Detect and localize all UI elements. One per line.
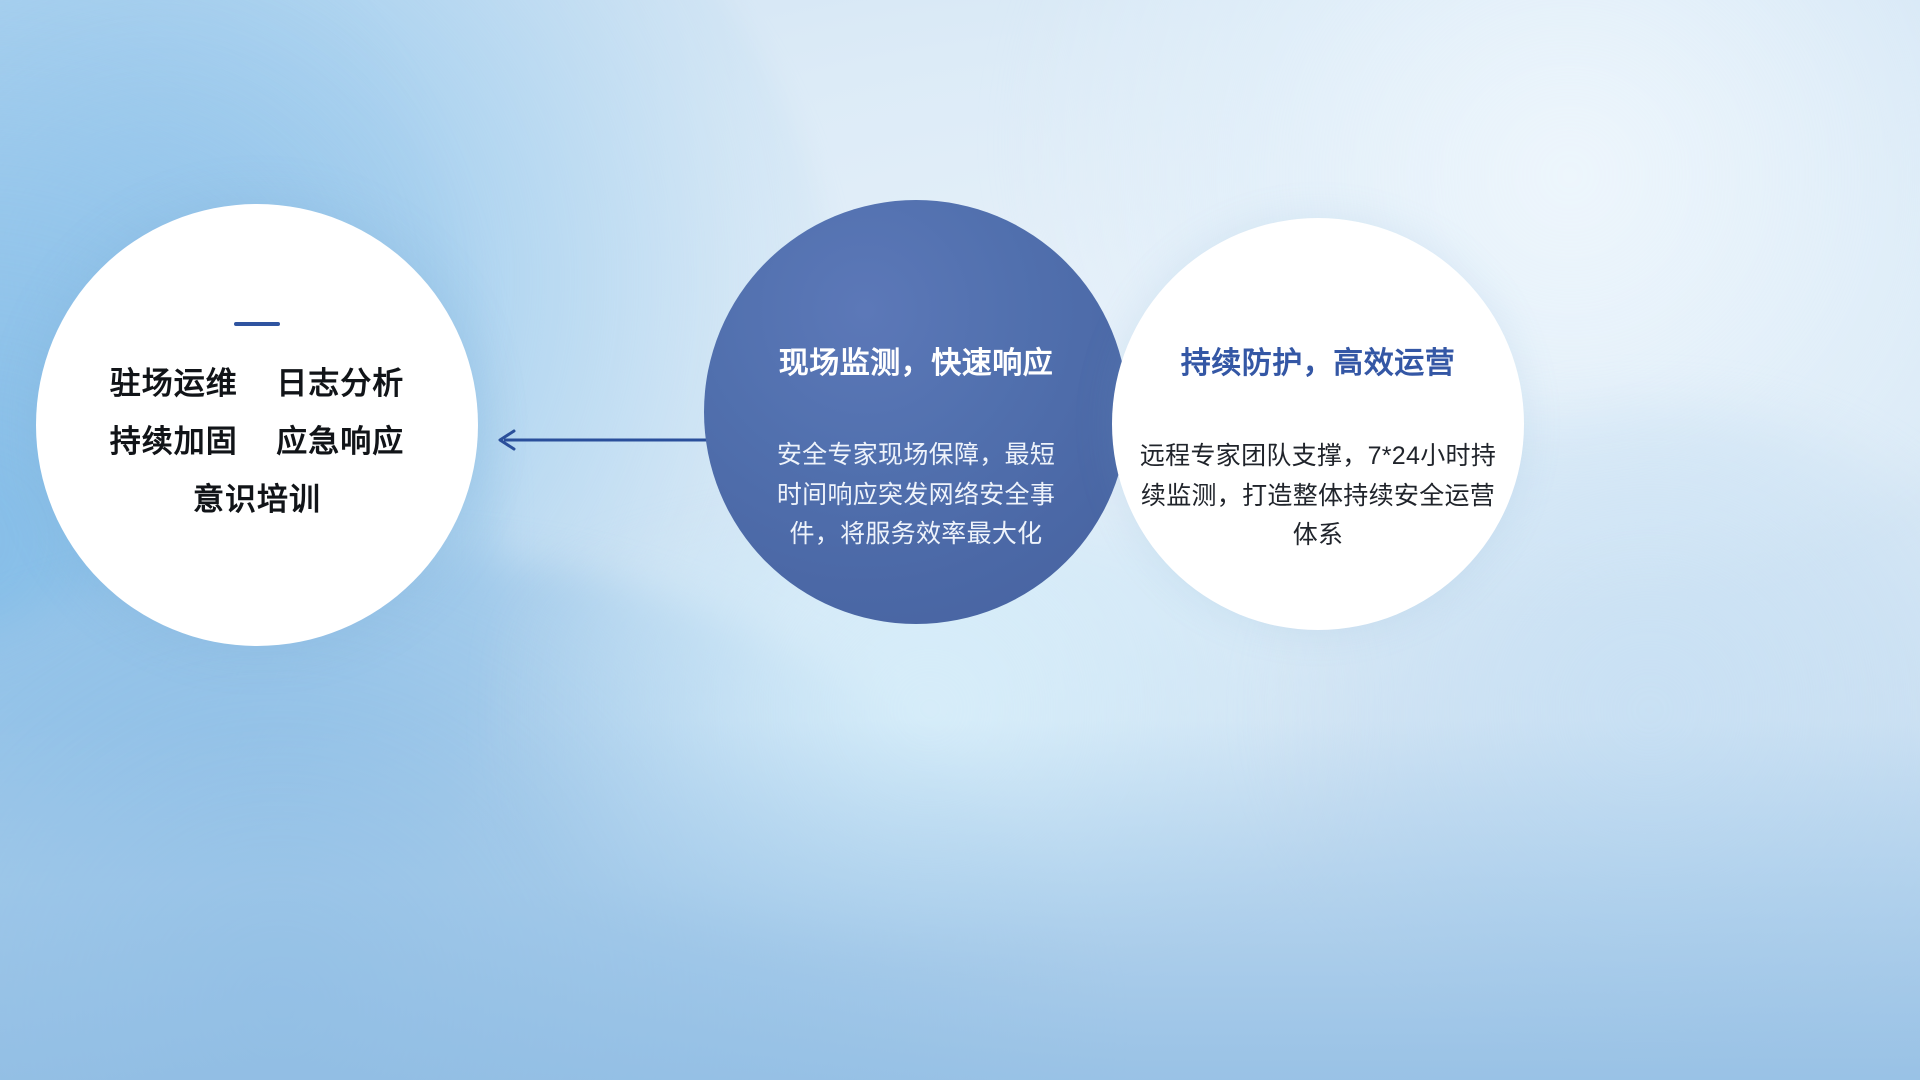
mid-circle-title: 现场监测，快速响应 — [779, 338, 1054, 382]
left-capability-list: 驻场运维 日志分析 持续加固 应急响应 意识培训 — [36, 368, 478, 515]
divider-dash-icon — [234, 322, 280, 326]
flow-arrow-left-pointing — [488, 420, 710, 460]
right-circle-title: 持续防护，高效运营 — [1181, 338, 1456, 382]
slide-canvas: 驻场运维 日志分析 持续加固 应急响应 意识培训 现场监测，快速响应 安全专家现… — [0, 0, 1920, 1080]
right-continuous-protection-circle: 持续防护，高效运营 远程专家团队支撑，7*24小时持续监测，打造整体持续安全运营… — [1112, 218, 1524, 630]
left-capability-circle: 驻场运维 日志分析 持续加固 应急响应 意识培训 — [36, 204, 478, 646]
mid-circle-body: 安全专家现场保障，最短时间响应突发网络安全事件，将服务效率最大化 — [766, 436, 1066, 555]
list-item: 持续加固 应急响应 — [36, 426, 478, 457]
list-item: 意识培训 — [36, 484, 478, 515]
right-circle-body: 远程专家团队支撑，7*24小时持续监测，打造整体持续安全运营体系 — [1139, 437, 1497, 556]
mid-onsite-monitoring-circle: 现场监测，快速响应 安全专家现场保障，最短时间响应突发网络安全事件，将服务效率最… — [704, 200, 1128, 624]
arrow-icon — [488, 420, 710, 460]
background-bottom-band — [0, 720, 1920, 1080]
list-item: 驻场运维 日志分析 — [36, 368, 478, 399]
